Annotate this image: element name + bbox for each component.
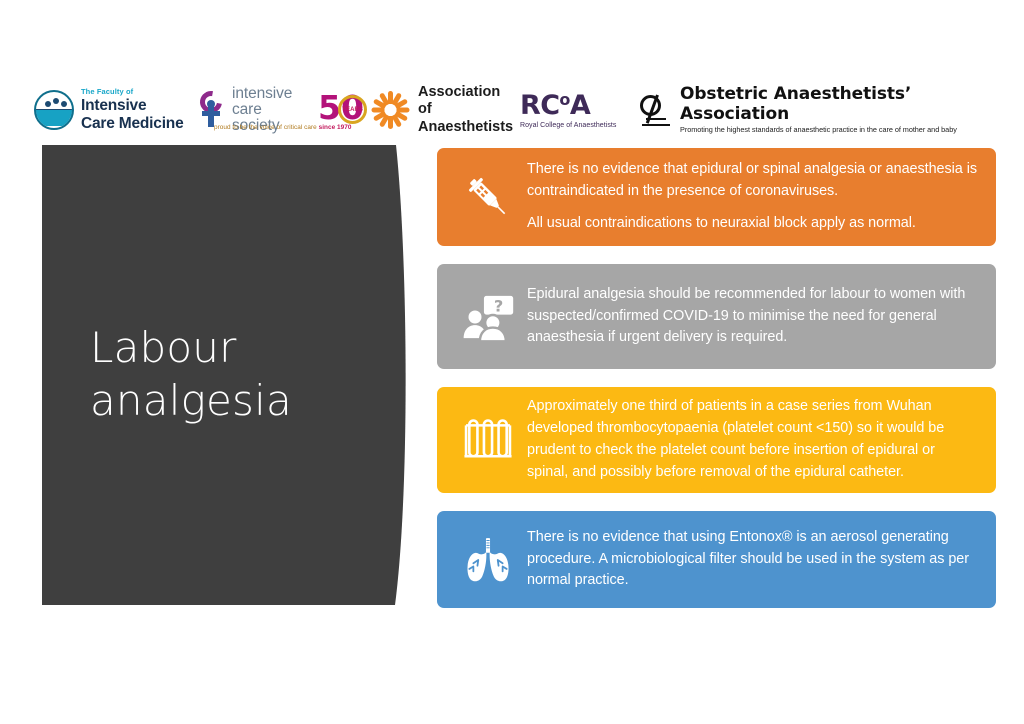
ics-tagline-text: proud to be the voice of critical care [214,124,317,131]
ics-badge-label: YEARS [342,107,363,113]
syringe-icon [449,171,527,223]
partner-logo-bar: The Faculty of Intensive Care Medicine i… [34,82,1002,138]
aoa-name-line1: Association [418,84,520,101]
lungs-icon [449,534,527,586]
oaa-monogram-icon [640,93,672,127]
page-title-line1: Labour [90,322,380,375]
logo-association-of-anaesthetists: Association of Anaesthetists [370,82,520,138]
ficm-small-text: The Faculty of [81,88,184,96]
card-paragraph: Approximately one third of patients in a… [527,396,980,484]
card-paragraph: There is no evidence that epidural or sp… [527,159,980,203]
card-epidural-recommendation-covid[interactable]: ? Epidural analgesia should be recommend… [437,264,996,369]
rcoa-rc: RC [520,90,559,121]
people-question-icon: ? [449,291,527,343]
rcoa-wordmark-icon: RCoA [520,92,590,119]
ficm-name-line1: Intensive [81,97,184,114]
logo-royal-college-of-anaesthetists: RCoA Royal College of Anaesthetists [520,82,640,138]
recommendation-card-list: There is no evidence that epidural or sp… [437,148,996,626]
page-title: Labour analgesia [90,145,380,605]
card-text-epidural-spinal-evidence: There is no evidence that epidural or sp… [527,159,980,236]
card-paragraph: All usual contraindications to neuraxial… [527,213,980,235]
logo-intensive-care-society: intensive care society proud to be the v… [200,82,370,138]
rcoa-subtitle: Royal College of Anaesthetists [520,122,616,129]
card-text-platelet-count-thrombocytopaenia: Approximately one third of patients in a… [527,396,980,484]
svg-text:?: ? [494,296,503,315]
card-platelet-count-thrombocytopaenia[interactable]: Approximately one third of patients in a… [437,387,996,493]
oaa-name: Obstetric Anaesthetists’ Association [680,85,1002,124]
ficm-circle-people-wave-icon [34,90,74,130]
ficm-name-line2: Care Medicine [81,115,184,132]
ics-50-years-badge-icon: 50 YEARS [318,90,370,130]
card-text-entonox-aerosol-filter: There is no evidence that using Entonox®… [527,527,980,593]
card-epidural-spinal-evidence[interactable]: There is no evidence that epidural or sp… [437,148,996,246]
oaa-wordmark: Obstetric Anaesthetists’ Association Pro… [680,85,1002,134]
rcoa-o: o [559,90,569,109]
card-paragraph: Epidural analgesia should be recommended… [527,284,980,350]
title-panel: Labour analgesia [42,145,414,605]
card-text-epidural-recommendation-covid: Epidural analgesia should be recommended… [527,284,980,350]
logo-obstetric-anaesthetists-association: Obstetric Anaesthetists’ Association Pro… [640,82,1002,138]
aoa-name-line2: of Anaesthetists [418,101,520,135]
card-paragraph: There is no evidence that using Entonox®… [527,527,980,593]
ics-name-line1: intensive care [232,86,306,119]
test-tubes-icon [449,414,527,466]
oaa-tagline: Promoting the highest standards of anaes… [680,126,1002,134]
slide-canvas: The Faculty of Intensive Care Medicine i… [0,0,1024,724]
starburst-petal-icon [370,90,410,130]
ficm-wordmark: The Faculty of Intensive Care Medicine [81,88,184,132]
logo-faculty-of-intensive-care-medicine: The Faculty of Intensive Care Medicine [34,82,200,138]
rcoa-a: A [570,90,590,121]
aoa-wordmark: Association of Anaesthetists [418,84,520,135]
page-title-line2: analgesia [90,375,380,428]
card-entonox-aerosol-filter[interactable]: There is no evidence that using Entonox®… [437,511,996,608]
